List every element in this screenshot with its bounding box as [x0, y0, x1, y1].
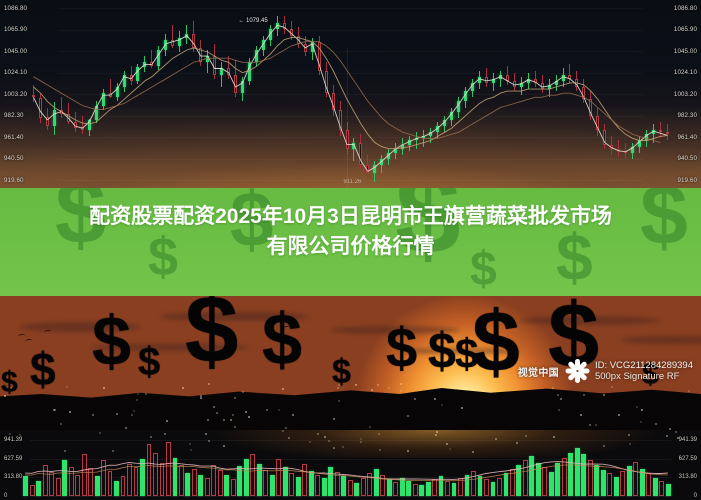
axis-tick-label: 627.59: [4, 456, 22, 462]
volume-bar: [387, 479, 392, 496]
starburst-icon: [564, 358, 590, 384]
volume-bar: [173, 458, 178, 496]
sparkle: [328, 440, 330, 442]
sparkle: [436, 431, 438, 433]
sparkle: [112, 450, 114, 452]
volume-bar: [465, 475, 470, 496]
axis-tick-label: 940.50: [4, 155, 24, 162]
sparkle: [636, 406, 638, 408]
page-title-line-2: 有限公司价格行情: [267, 235, 435, 258]
sparkle: [213, 406, 215, 408]
volume-bar: [237, 466, 242, 496]
volume-bar: [478, 476, 483, 496]
volume-bar: [562, 458, 567, 496]
sparkle: [446, 443, 448, 445]
sparkle: [266, 409, 268, 411]
volume-axis-right: 941.39627.59313.800: [651, 430, 697, 500]
volume-bar: [633, 462, 638, 497]
sparkle: [449, 448, 451, 450]
volume-bar: [134, 467, 139, 496]
volume-bar: [523, 460, 528, 496]
dollar-sign-silhouette: $: [138, 346, 160, 380]
volume-bar: [218, 470, 223, 496]
sparkle: [69, 411, 71, 413]
volume-bar: [484, 479, 489, 496]
axis-tick-label: 961.40: [677, 134, 697, 141]
volume-bar: [205, 478, 210, 496]
watermark-brand-label: 视觉中国: [518, 364, 559, 379]
sparkle: [309, 441, 311, 443]
volume-bar: [374, 469, 379, 496]
sparkle: [317, 433, 319, 435]
volume-bar: [341, 476, 346, 496]
moving-average-lines: [0, 0, 701, 188]
axis-tick-label: 1024.10: [674, 69, 697, 76]
dollar-sign-silhouette: $: [386, 324, 417, 371]
volume-bar: [529, 456, 534, 496]
axis-tick-label: 0: [694, 493, 697, 499]
volume-bar: [153, 453, 158, 496]
price-axis-left: 1086.801065.901045.001024.101003.20982.3…: [4, 0, 64, 188]
sparkle: [628, 434, 630, 436]
volume-bar: [82, 454, 87, 496]
volume-bar: [231, 479, 236, 496]
volume-bar: [283, 467, 288, 496]
volume-bar: [627, 466, 632, 496]
sparkle: [337, 387, 339, 389]
sparkle: [150, 436, 152, 438]
volume-bar: [302, 464, 307, 496]
sparkle: [553, 436, 555, 438]
volume-bar: [458, 478, 463, 496]
volume-bar: [588, 460, 593, 496]
volume-chart-glow: [0, 430, 701, 458]
axis-tick-label: 940.50: [677, 155, 697, 162]
dollar-sign-silhouette: $: [332, 358, 351, 387]
axis-tick-label: 1065.90: [4, 26, 27, 33]
volume-bar: [413, 484, 418, 496]
volume-bar: [439, 476, 444, 496]
dollar-sign-silhouette: $: [262, 310, 302, 370]
dollar-sign-silhouette: $: [92, 312, 131, 371]
moving-average-path: [34, 38, 668, 149]
sparkle: [525, 435, 527, 437]
dollar-sign-silhouette: $: [185, 296, 238, 371]
volume-bar: [192, 469, 197, 496]
sparkle: [629, 443, 631, 445]
volume-bar: [354, 483, 359, 496]
volume-bar: [640, 469, 645, 496]
price-chart-panel: 1086.801065.901045.001024.101003.20982.3…: [0, 0, 701, 188]
axis-tick-label: 941.39: [4, 437, 22, 443]
sparkle: [441, 404, 443, 406]
sparkle: [205, 433, 207, 435]
sparkle: [64, 450, 66, 452]
volume-bar: [348, 480, 353, 496]
volume-bar: [601, 470, 606, 496]
sparkle: [400, 390, 402, 392]
watermark-meta: ID: VCG211284289394 500px Signature RF: [595, 360, 693, 382]
volume-bar: [510, 469, 515, 496]
volume-bar: [406, 481, 411, 496]
sparkle: [137, 393, 139, 395]
axis-tick-label: 1003.20: [674, 91, 697, 98]
sunset-photo-band: $$$$$$$$$$$$$ 视觉中国 ID: VCG211284289394 5…: [0, 296, 701, 430]
page-title: 配资股票配资2025年10月3日昆明市王旗营蔬菜批发市场 有限公司价格行情: [0, 202, 701, 262]
volume-chart-panel: 941.39627.59313.800 941.39627.59313.800: [0, 430, 701, 500]
axis-tick-label: 627.59: [679, 456, 697, 462]
watermark-license-label: 500px Signature RF: [595, 371, 693, 382]
axis-tick-label: 919.60: [4, 177, 24, 184]
axis-tick-label: 1086.80: [674, 5, 697, 12]
sparkle: [223, 445, 225, 447]
sparkle: [292, 414, 294, 416]
volume-bar: [393, 482, 398, 496]
volume-bar: [491, 482, 496, 496]
volume-bar: [471, 471, 476, 496]
volume-bar: [575, 448, 580, 496]
volume-bar: [452, 483, 457, 496]
dollar-sign-silhouette: $: [1, 370, 18, 395]
axis-tick-label: 982.30: [677, 112, 697, 119]
dollar-sign-silhouette: $: [428, 330, 456, 372]
sparkle: [99, 432, 101, 434]
sparkle: [230, 419, 232, 421]
axis-tick-label: 1065.90: [674, 26, 697, 33]
volume-bar: [361, 478, 366, 496]
axis-tick-label: 1045.00: [4, 48, 27, 55]
volume-bar: [88, 468, 93, 496]
volume-bar: [166, 442, 171, 496]
volume-bar: [147, 444, 152, 496]
sparkle: [516, 442, 518, 444]
volume-bar: [296, 477, 301, 496]
volume-bar: [95, 476, 100, 496]
sparkle: [10, 387, 12, 389]
volume-bar: [56, 478, 61, 496]
trough-price-annotation: 911.26: [343, 179, 361, 185]
axis-tick-label: 919.60: [677, 177, 697, 184]
sparkle: [595, 424, 597, 426]
volume-bar: [432, 479, 437, 496]
volume-bar: [114, 481, 119, 496]
volume-bar: [315, 475, 320, 496]
volume-bar: [445, 481, 450, 496]
axis-tick-label: 1003.20: [4, 91, 27, 98]
volume-bar: [75, 475, 80, 496]
sparkle: [182, 387, 184, 389]
volume-bar: [581, 454, 586, 496]
sparkle: [360, 441, 362, 443]
volume-bar: [127, 464, 132, 496]
sparkle: [60, 423, 62, 425]
volume-bar: [198, 475, 203, 496]
volume-bar: [263, 470, 268, 496]
volume-bar: [121, 476, 126, 496]
sparkle: [378, 433, 380, 435]
dollar-sign-silhouette: $: [30, 350, 56, 389]
sparkle: [282, 430, 284, 432]
sparkle: [333, 418, 335, 420]
volume-bar: [309, 471, 314, 496]
article-banner-page: 1086.801065.901045.001024.101003.20982.3…: [0, 0, 701, 500]
axis-tick-label: 1086.80: [4, 5, 27, 12]
moving-average-path: [34, 25, 668, 171]
volume-bar: [614, 477, 619, 496]
axis-tick-label: 313.80: [4, 474, 22, 480]
sparkle: [53, 409, 55, 411]
sparkle: [285, 427, 287, 429]
volume-bar: [380, 475, 385, 496]
volume-bar: [607, 473, 612, 496]
volume-bar: [549, 472, 554, 496]
sparkle: [435, 434, 437, 436]
volume-bar: [211, 465, 216, 496]
volume-bar: [322, 478, 327, 496]
gridline: [30, 440, 671, 441]
gridline: [30, 496, 671, 497]
volume-bar: [62, 460, 67, 496]
peak-price-annotation: ← 1079.45: [238, 18, 267, 24]
volume-bar: [568, 453, 573, 496]
axis-tick-label: 313.80: [679, 474, 697, 480]
volume-bar: [542, 467, 547, 496]
watermark: 视觉中国 ID: VCG211284289394 500px Signature…: [518, 358, 693, 384]
volume-bar: [426, 482, 431, 496]
volume-bar: [289, 473, 294, 496]
crosshair-line: [347, 48, 348, 188]
sparkle: [324, 436, 326, 438]
sparkle: [164, 433, 166, 435]
volume-bar: [257, 464, 262, 496]
volume-bar: [504, 473, 509, 496]
sparkle: [338, 400, 340, 402]
sparkle: [558, 409, 560, 411]
sparkle: [379, 449, 381, 451]
price-axis-right: 1086.801065.901045.001024.101003.20982.3…: [637, 0, 697, 188]
volume-bar: [594, 465, 599, 496]
volume-bar: [555, 463, 560, 496]
volume-bar: [160, 463, 165, 496]
volume-bar: [497, 478, 502, 496]
volume-bar: [185, 473, 190, 496]
watermark-id-label: ID: VCG211284289394: [595, 360, 693, 371]
volume-bar: [367, 473, 372, 496]
sparkle: [371, 389, 373, 391]
sparkle: [552, 387, 554, 389]
sparkle: [133, 410, 135, 412]
sparkle: [245, 411, 247, 413]
volume-bar: [250, 454, 255, 496]
sparkle: [125, 427, 127, 429]
volume-bar: [224, 475, 229, 496]
sparkle: [472, 451, 474, 453]
sparkle: [288, 437, 290, 439]
sparkle: [603, 445, 605, 447]
sparkle: [223, 419, 225, 421]
volume-bar: [179, 465, 184, 496]
axis-tick-label: 982.30: [4, 112, 24, 119]
volume-bar: [400, 478, 405, 496]
sparkle: [355, 384, 357, 386]
sparkle: [407, 415, 409, 417]
axis-tick-label: 941.39: [679, 437, 697, 443]
volume-bar: [69, 467, 74, 496]
sparkle: [640, 421, 642, 423]
sparkle: [333, 447, 335, 449]
sparkle: [388, 387, 390, 389]
article-title-band: $$$$$$$ 配资股票配资2025年10月3日昆明市王旗营蔬菜批发市场 有限公…: [0, 188, 701, 296]
volume-bar: [516, 465, 521, 496]
volume-bar: [244, 459, 249, 496]
axis-tick-label: 0: [4, 493, 7, 499]
sparkle: [338, 384, 340, 386]
volume-bar: [270, 475, 275, 496]
volume-bar: [620, 471, 625, 496]
volume-bar: [140, 459, 145, 496]
sparkle: [190, 449, 192, 451]
volume-bar: [335, 472, 340, 496]
page-title-line-1: 配资股票配资2025年10月3日昆明市王旗营蔬菜批发市场: [89, 205, 612, 228]
volume-axis-left: 941.39627.59313.800: [4, 430, 50, 500]
sparkle: [342, 446, 344, 448]
dollar-sign-silhouette: $: [472, 306, 520, 378]
sparkle: [611, 386, 613, 388]
volume-bar: [108, 471, 113, 496]
sparkle: [208, 440, 210, 442]
volume-bar: [419, 485, 424, 496]
volume-bar: [536, 463, 541, 496]
volume-bar: [328, 467, 333, 496]
axis-tick-label: 961.40: [4, 134, 24, 141]
volume-bar: [101, 460, 106, 496]
sparkle: [200, 397, 202, 399]
sparkle: [189, 443, 191, 445]
axis-tick-label: 1024.10: [4, 69, 27, 76]
sparkle: [278, 409, 280, 411]
volume-bar: [276, 459, 281, 496]
sparkle: [407, 450, 409, 452]
axis-tick-label: 1045.00: [674, 48, 697, 55]
sparkle: [166, 420, 168, 422]
